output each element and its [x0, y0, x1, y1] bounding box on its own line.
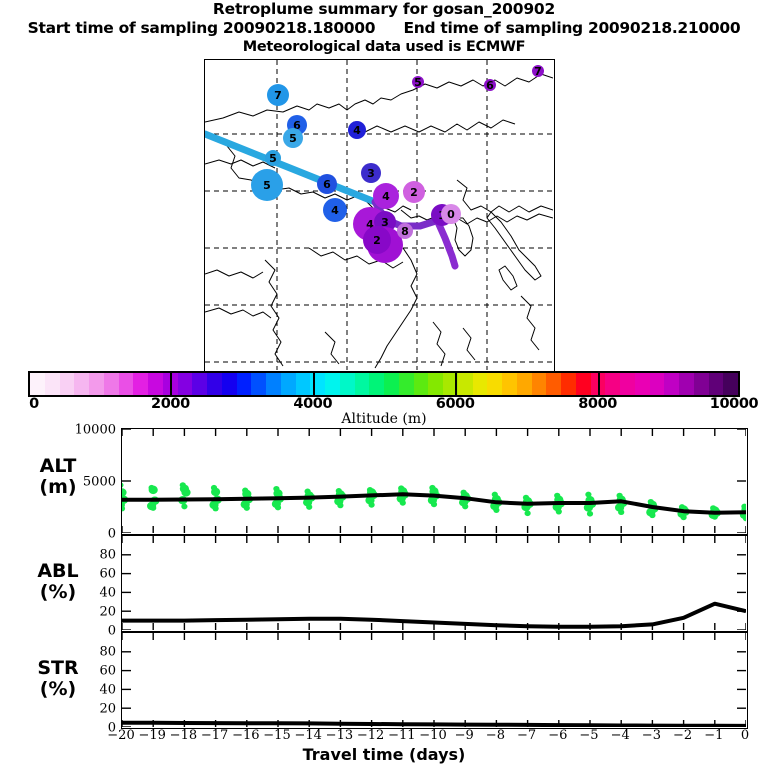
- str-plot: [122, 633, 746, 727]
- x-axis-tick-labels: −20−19−18−17−16−15−14−13−12−11−10−9−8−7−…: [0, 728, 768, 746]
- plume-blob-label: 6: [486, 79, 494, 92]
- plume-blob-label: 4: [382, 190, 390, 203]
- colorbar-swatch-29: [458, 373, 473, 395]
- x-axis-title: Travel time (days): [0, 745, 768, 764]
- colorbar-major-tick-4000: [313, 371, 315, 397]
- alt-scatter-dot: [400, 500, 406, 506]
- alt-scatter-dot: [213, 506, 219, 512]
- colorbar-swatch-39: [605, 373, 620, 395]
- colorbar-swatch-34: [532, 373, 547, 395]
- plume-blob-label: 7: [274, 89, 282, 102]
- plume-blobs: 765453564424332810567: [251, 65, 544, 263]
- colorbar-tick-0: 0: [29, 396, 39, 412]
- x-tick-label--9: −9: [455, 728, 474, 743]
- abl-ytick-label-80: 80: [56, 548, 116, 563]
- x-tick-label--20: −20: [107, 728, 134, 743]
- abl-ytick-label-60: 60: [56, 567, 116, 582]
- colorbar-swatch-1: [45, 373, 60, 395]
- colorbar-swatch-27: [428, 373, 443, 395]
- plume-blob-3: 4: [348, 121, 366, 139]
- x-tick-label--8: −8: [486, 728, 505, 743]
- plume-blob-label: 5: [269, 152, 277, 165]
- colorbar-swatch-8: [148, 373, 163, 395]
- x-tick-label--1: −1: [704, 728, 723, 743]
- colorbar-swatch-40: [620, 373, 635, 395]
- x-tick-label--18: −18: [170, 728, 197, 743]
- alt-scatter-dot: [681, 515, 687, 521]
- colorbar-swatch-4: [89, 373, 104, 395]
- colorbar-swatch-30: [473, 373, 488, 395]
- colorbar-tick-8000: 8000: [578, 396, 617, 412]
- plume-blob-label: 5: [289, 132, 297, 145]
- x-tick-label--4: −4: [611, 728, 630, 743]
- alt-scatter-dot: [244, 505, 250, 511]
- alt-scatter-dot: [181, 504, 187, 510]
- colorbar-swatch-24: [384, 373, 399, 395]
- alt-plot: [122, 429, 746, 533]
- colorbar-swatch-6: [119, 373, 134, 395]
- plume-blob-10: 2: [403, 181, 425, 203]
- header-block: Retroplume summary for gosan_200902 Star…: [0, 0, 768, 56]
- colorbar-swatch-25: [399, 373, 414, 395]
- colorbar-swatch-7: [133, 373, 148, 395]
- alt-ytick-label-5000: 5000: [56, 474, 116, 489]
- plume-blob-18: 5: [412, 76, 424, 89]
- plume-blob-label: 2: [373, 234, 381, 247]
- colorbar-major-tick-2000: [170, 371, 172, 397]
- colorbar-swatch-37: [576, 373, 591, 395]
- abl-tick-marks: [122, 536, 746, 630]
- colorbar-swatch-5: [104, 373, 119, 395]
- alt-scatter-dot: [649, 512, 655, 518]
- alt-scatter-dot: [122, 482, 124, 488]
- colorbar-gradient: [30, 373, 738, 395]
- retroplume-map[interactable]: 765453564424332810567: [204, 59, 555, 372]
- colorbar-swatch-15: [251, 373, 266, 395]
- plume-blob-label: 5: [263, 179, 271, 192]
- colorbar-swatch-23: [369, 373, 384, 395]
- x-tick-label--19: −19: [138, 728, 165, 743]
- x-tick-label--13: −13: [326, 728, 353, 743]
- colorbar-swatch-13: [222, 373, 237, 395]
- colorbar-swatch-11: [192, 373, 207, 395]
- alt-scatter-dot: [337, 503, 343, 509]
- colorbar-swatch-20: [325, 373, 340, 395]
- alt-ytick-label-0: 0: [56, 526, 116, 541]
- colorbar-tick-4000: 4000: [293, 396, 332, 412]
- plume-blob-label: 5: [414, 76, 422, 89]
- colorbar-swatch-41: [635, 373, 650, 395]
- alt-scatter-dot: [275, 505, 281, 511]
- alt-scatter-dot: [306, 504, 312, 510]
- plume-blob-8: 4: [323, 198, 347, 222]
- plume-blob-label: 3: [367, 167, 375, 180]
- colorbar-swatch-2: [60, 373, 75, 395]
- abl-ytick-label-40: 40: [56, 585, 116, 600]
- colorbar-major-tick-6000: [455, 371, 457, 397]
- alt-scatter-dot: [587, 511, 593, 517]
- x-tick-label--7: −7: [517, 728, 536, 743]
- x-tick-label--11: −11: [388, 728, 415, 743]
- x-tick-label--15: −15: [263, 728, 290, 743]
- colorbar-swatch-31: [487, 373, 502, 395]
- x-tick-label--12: −12: [357, 728, 384, 743]
- colorbar-swatch-45: [694, 373, 709, 395]
- x-tick-label--16: −16: [232, 728, 259, 743]
- plume-blob-label: 7: [534, 65, 542, 78]
- plume-blob-label: 6: [323, 178, 331, 191]
- x-tick-label--5: −5: [579, 728, 598, 743]
- str-tick-marks: [122, 633, 746, 727]
- plume-blob-0: 7: [267, 84, 289, 106]
- alt-scatter-dot: [369, 502, 375, 508]
- colorbar-swatch-12: [207, 373, 222, 395]
- plume-blob-label: 8: [401, 225, 409, 238]
- alt-ytick-label-10000: 10000: [56, 422, 116, 437]
- colorbar-swatch-44: [679, 373, 694, 395]
- colorbar-swatch-35: [546, 373, 561, 395]
- plume-blob-9: 4: [373, 183, 399, 209]
- alt-scatter-dot: [462, 504, 468, 510]
- colorbar-swatch-18: [296, 373, 311, 395]
- x-tick-label-0: 0: [741, 728, 749, 743]
- colorbar-swatch-26: [414, 373, 429, 395]
- sampling-times: Start time of sampling 20090218.180000 E…: [0, 19, 768, 38]
- colorbar-tick-6000: 6000: [436, 396, 475, 412]
- end-time-label: End time of sampling 20090218.210000: [403, 19, 740, 37]
- alt-scatter-dot: [556, 509, 562, 515]
- colorbar-swatch-3: [74, 373, 89, 395]
- x-tick-label--3: −3: [642, 728, 661, 743]
- tail-track: [437, 220, 455, 266]
- x-tick-label--10: −10: [419, 728, 446, 743]
- plume-blob-19: 6: [484, 79, 496, 92]
- altitude-colorbar[interactable]: [28, 371, 740, 397]
- plume-blob-label: 4: [353, 124, 361, 137]
- abl-ytick-label-20: 20: [56, 604, 116, 619]
- plume-blob-5: 3: [361, 163, 381, 183]
- plume-blob-4: 5: [265, 150, 281, 166]
- alt-scatter-dot: [618, 509, 624, 515]
- abl-panel[interactable]: [121, 535, 748, 632]
- colorbar-swatch-33: [517, 373, 532, 395]
- alt-scatter-dot: [149, 486, 158, 494]
- x-tick-label--2: −2: [673, 728, 692, 743]
- colorbar-swatch-0: [30, 373, 45, 395]
- alt-scatter-dot: [493, 507, 499, 513]
- x-tick-label--6: −6: [548, 728, 567, 743]
- x-tick-label--14: −14: [294, 728, 321, 743]
- alt-scatter-dot: [431, 502, 437, 508]
- plume-blob-14: 2: [363, 226, 391, 254]
- alt-scatter-dot: [150, 505, 156, 511]
- plume-blob-2: 5: [283, 128, 303, 148]
- colorbar-tick-2000: 2000: [151, 396, 190, 412]
- colorbar-swatch-16: [266, 373, 281, 395]
- met-data-label: Meteorological data used is ECMWF: [0, 38, 768, 56]
- colorbar-swatch-21: [340, 373, 355, 395]
- colorbar-swatch-46: [709, 373, 724, 395]
- plume-blob-15: 8: [397, 223, 413, 239]
- plume-blob-label: 4: [331, 204, 339, 217]
- colorbar-swatch-14: [237, 373, 252, 395]
- plume-blob-17: 0: [441, 204, 461, 224]
- start-time-label: Start time of sampling 20090218.180000: [28, 19, 376, 37]
- colorbar-swatch-42: [650, 373, 665, 395]
- colorbar-swatch-32: [502, 373, 517, 395]
- colorbar-swatch-22: [355, 373, 370, 395]
- str-ytick-label-20: 20: [56, 701, 116, 716]
- page-title: Retroplume summary for gosan_200902: [0, 0, 768, 19]
- plume-blob-label: 0: [447, 208, 455, 221]
- abl-ytick-label-0: 0: [56, 623, 116, 638]
- alt-scatter-dot: [122, 488, 127, 496]
- colorbar-major-tick-8000: [598, 371, 600, 397]
- str-ytick-label-60: 60: [56, 664, 116, 679]
- alt-scatter-points: [122, 482, 746, 521]
- str-ytick-label-80: 80: [56, 645, 116, 660]
- colorbar-swatch-43: [664, 373, 679, 395]
- colorbar-swatch-10: [178, 373, 193, 395]
- alt-scatter-dot: [211, 488, 220, 496]
- alt-panel[interactable]: [121, 428, 748, 535]
- colorbar-swatch-17: [281, 373, 296, 395]
- colorbar-swatch-36: [561, 373, 576, 395]
- alt-scatter-dot: [712, 514, 718, 520]
- str-ytick-label-40: 40: [56, 682, 116, 697]
- str-panel[interactable]: [121, 632, 748, 729]
- x-tick-label--17: −17: [201, 728, 228, 743]
- abl-plot: [122, 536, 746, 630]
- plume-blob-20: 7: [532, 65, 544, 78]
- alt-scatter-dot: [181, 488, 190, 496]
- plume-blob-7: 6: [317, 174, 337, 194]
- plume-blob-label: 2: [410, 186, 418, 199]
- map-canvas: 765453564424332810567: [205, 60, 553, 370]
- plume-blob-6: 5: [251, 169, 283, 201]
- alt-scatter-dot: [525, 510, 531, 516]
- colorbar-swatch-47: [723, 373, 738, 395]
- colorbar-tick-10000: 10000: [710, 396, 758, 412]
